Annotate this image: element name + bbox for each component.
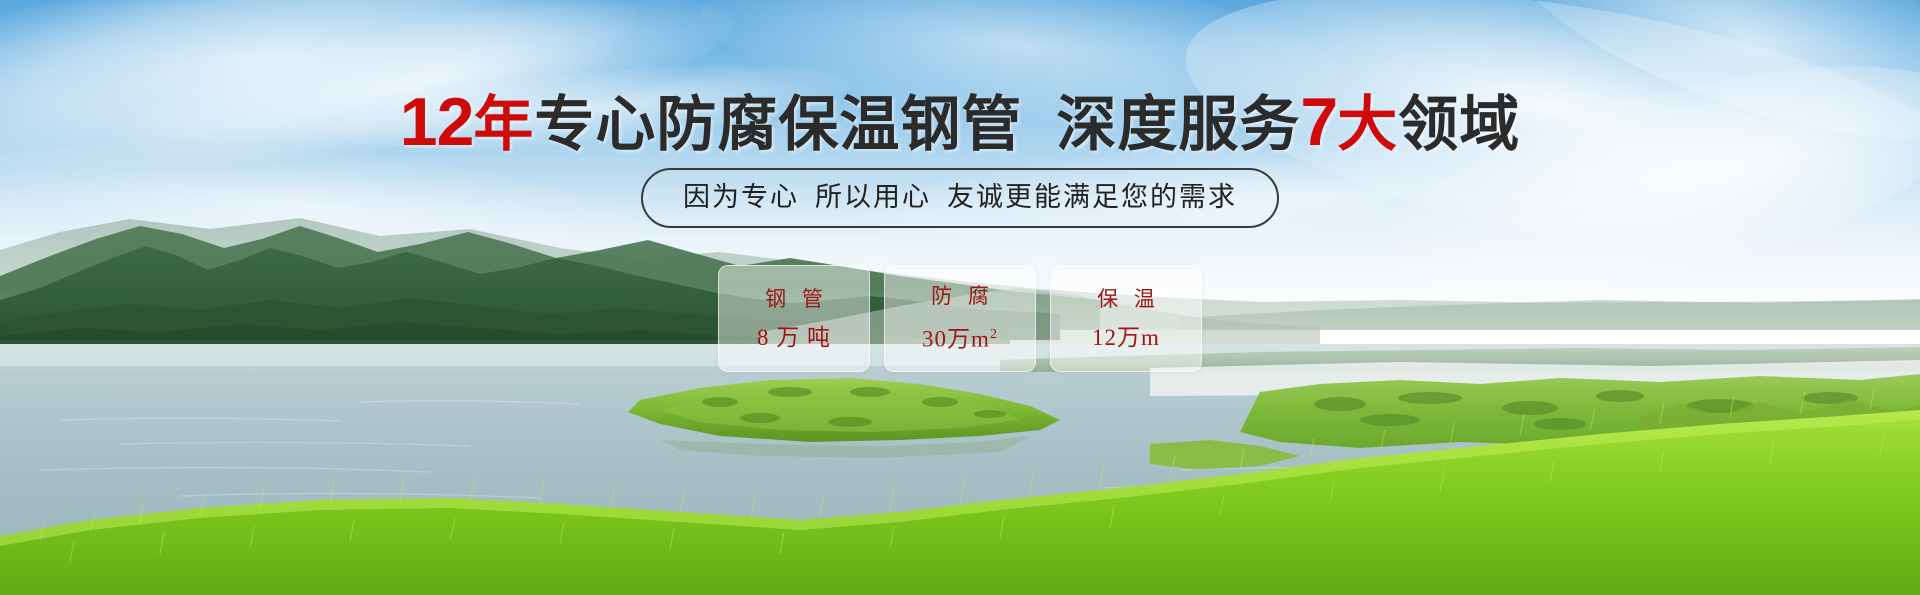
subtitle-segment-3: 友诚更能满足您的需求: [947, 182, 1237, 212]
headline-fields-text: 领域: [1398, 91, 1520, 158]
stat-card-value-text: 30万m: [922, 327, 990, 352]
stat-cards-group: 钢 管 8 万 吨 防 腐 30万m2 保 温 12万m: [718, 265, 1202, 372]
subtitle-segment-1: 因为专心: [683, 182, 799, 212]
stat-card-value: 30万m2: [922, 321, 998, 354]
stat-card-label: 防 腐: [926, 283, 994, 311]
headline-fields-number: 7: [1300, 84, 1337, 160]
stat-card-value: 12万m: [1092, 324, 1160, 352]
headline-fields-unit: 大: [1337, 91, 1398, 158]
headline-main-text: 专心防腐保温钢管: [534, 91, 1022, 158]
stat-card-label: 保 温: [1092, 286, 1160, 314]
hero-banner: 12年专心防腐保温钢管深度服务7大领域 因为专心所以用心友诚更能满足您的需求 钢…: [0, 0, 1920, 595]
stat-card-label: 钢 管: [760, 286, 828, 314]
stat-card-value-superscript: 2: [990, 327, 998, 342]
stat-card-value-text: 8 万 吨: [757, 325, 831, 350]
banner-subtitle-pill: 因为专心所以用心友诚更能满足您的需求: [641, 168, 1279, 228]
stat-card-insulation: 保 温 12万m: [1050, 265, 1202, 372]
stat-card-value: 8 万 吨: [757, 324, 831, 352]
subtitle-segment-2: 所以用心: [815, 182, 931, 212]
banner-headline: 12年专心防腐保温钢管深度服务7大领域: [0, 88, 1920, 159]
headline-service-text: 深度服务: [1056, 91, 1300, 158]
headline-years-unit: 年: [473, 91, 534, 158]
headline-years-number: 12: [400, 84, 474, 160]
stat-card-anticorrosion: 防 腐 30万m2: [884, 265, 1036, 372]
stat-card-value-text: 12万m: [1092, 325, 1160, 350]
stat-card-steel-pipe: 钢 管 8 万 吨: [718, 265, 870, 372]
